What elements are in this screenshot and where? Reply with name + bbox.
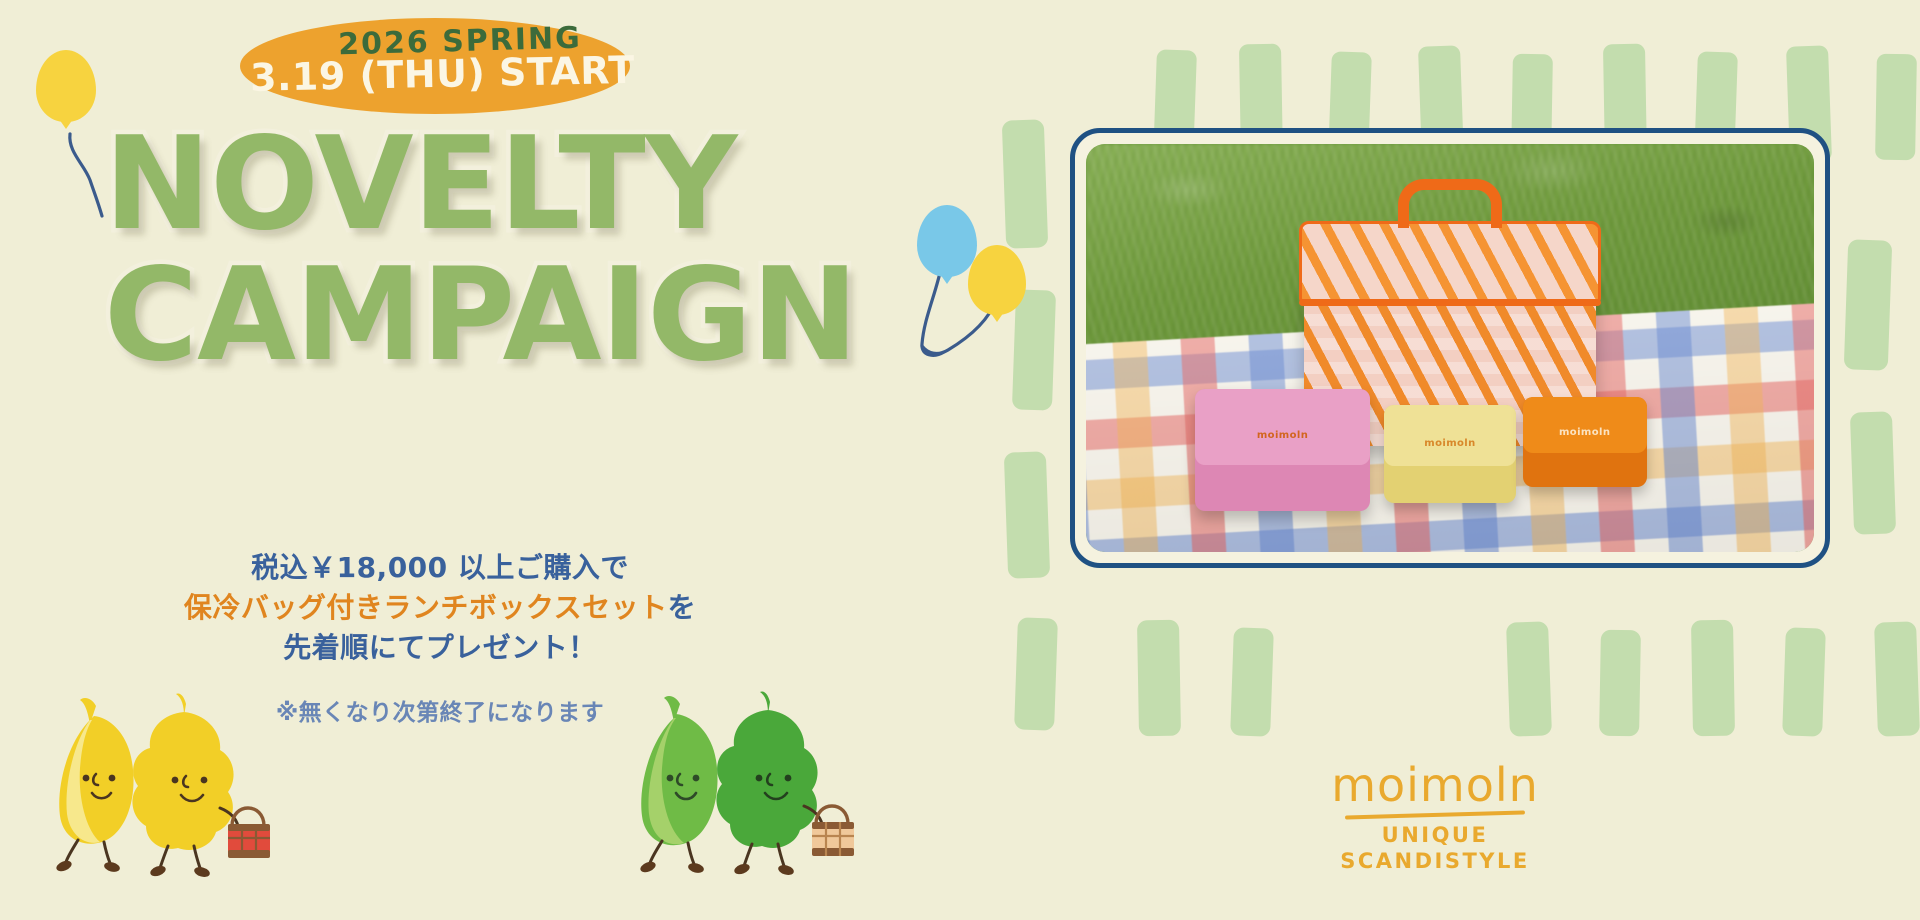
brand-tagline-line2: SCANDISTYLE xyxy=(1300,849,1570,875)
copy-gift-highlight: 保冷バッグ付きランチボックスセット xyxy=(184,591,668,624)
mascot-grape xyxy=(132,693,270,878)
lunch-box-orange: moimoln xyxy=(1523,397,1647,487)
lunch-box-yellow-brand: moimoln xyxy=(1384,438,1515,449)
lunch-box-pink-brand: moimoln xyxy=(1195,430,1370,441)
lunch-box-pink: moimoln xyxy=(1195,389,1370,511)
mascot-cluster-green xyxy=(716,691,854,876)
brand-tagline-line1: UNIQUE xyxy=(1300,823,1570,849)
mascot-leaf xyxy=(639,696,718,874)
cooler-bag-handle xyxy=(1398,179,1503,228)
picnic-basket-green xyxy=(812,806,854,856)
lunch-box-pink-lid xyxy=(1195,389,1370,465)
copy-gift-particle: を xyxy=(668,591,697,624)
balloon-yellow-left xyxy=(36,50,96,122)
picnic-basket-yellow xyxy=(228,808,270,858)
start-date-label: 3.19 (THU) START xyxy=(250,48,621,100)
balloon-yellow-right xyxy=(968,245,1026,315)
copy-line-purchase-threshold: 税込￥18,000 以上ご購入で xyxy=(150,548,730,588)
brand-logo: moimoln UNIQUE SCANDISTYLE xyxy=(1300,762,1570,874)
mascot-banana xyxy=(55,698,134,873)
cooler-bag-zipper xyxy=(1299,299,1602,306)
mascot-group-green xyxy=(614,690,864,885)
lunch-box-orange-lid xyxy=(1523,397,1647,453)
product-photo: moimoln moimoln moimoln xyxy=(1086,144,1814,552)
lunch-box-orange-brand: moimoln xyxy=(1523,427,1647,438)
mascot-group-yellow xyxy=(34,690,284,885)
headline: NOVELTY CAMPAIGN xyxy=(104,122,904,379)
lunch-box-yellow-lid xyxy=(1384,405,1515,466)
brand-wordmark: moimoln xyxy=(1300,762,1570,808)
copy-line-gift-item: 保冷バッグ付きランチボックスセットを xyxy=(150,588,730,628)
product-photo-card: moimoln moimoln moimoln xyxy=(1070,128,1830,568)
cooler-bag-lid xyxy=(1299,221,1602,304)
lunch-box-yellow: moimoln xyxy=(1384,405,1515,503)
novelty-campaign-banner: 2026 SPRING 3.19 (THU) START NOVELTY CAM… xyxy=(0,0,1920,920)
copy-line-first-come: 先着順にてプレゼント！ xyxy=(150,628,730,668)
headline-line-novelty: NOVELTY xyxy=(104,122,904,247)
headline-line-campaign: CAMPAIGN xyxy=(104,253,904,378)
